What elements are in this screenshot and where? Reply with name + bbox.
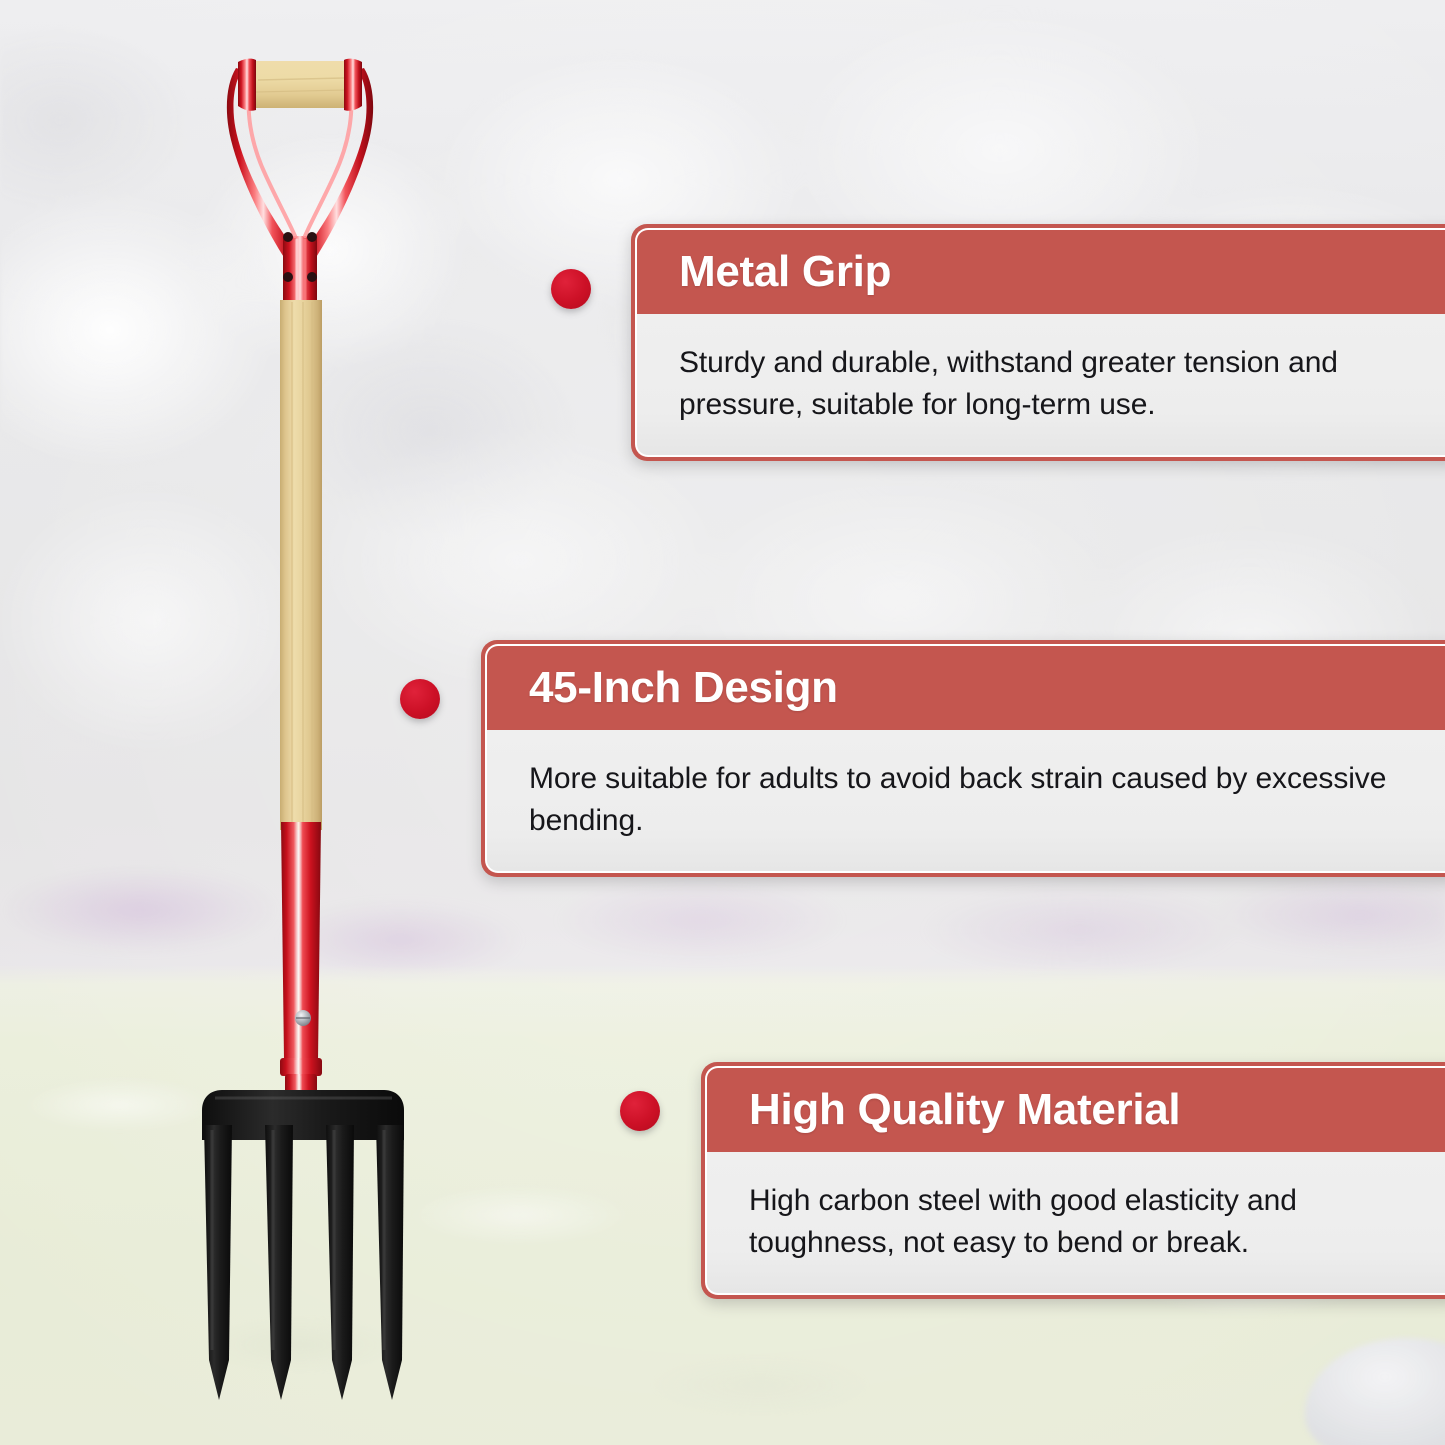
feature-card-inner: 45-Inch Design More suitable for adults …	[485, 644, 1445, 873]
feature-card-header: High Quality Material	[707, 1068, 1445, 1152]
feature-title: Metal Grip	[679, 249, 1445, 295]
feature-card-45-inch-design[interactable]: 45-Inch Design More suitable for adults …	[481, 640, 1445, 877]
feature-title: High Quality Material	[749, 1087, 1445, 1133]
feature-card-header: 45-Inch Design	[487, 646, 1445, 730]
feature-description: Sturdy and durable, withstand greater te…	[679, 342, 1425, 425]
product-infographic: Metal Grip Sturdy and durable, withstand…	[0, 0, 1445, 1445]
feature-card-body: More suitable for adults to avoid back s…	[487, 730, 1445, 871]
callout-dot-45-inch-design	[400, 679, 440, 719]
callout-dot-high-quality-material	[620, 1091, 660, 1131]
feature-card-inner: Metal Grip Sturdy and durable, withstand…	[635, 228, 1445, 457]
feature-card-high-quality-material[interactable]: High Quality Material High carbon steel …	[701, 1062, 1445, 1299]
feature-description: High carbon steel with good elasticity a…	[749, 1180, 1425, 1263]
feature-card-metal-grip[interactable]: Metal Grip Sturdy and durable, withstand…	[631, 224, 1445, 461]
callout-dot-metal-grip	[551, 269, 591, 309]
feature-card-body: High carbon steel with good elasticity a…	[707, 1152, 1445, 1293]
feature-card-body: Sturdy and durable, withstand greater te…	[637, 314, 1445, 455]
feature-description: More suitable for adults to avoid back s…	[529, 758, 1425, 841]
feature-title: 45-Inch Design	[529, 665, 1445, 711]
feature-card-header: Metal Grip	[637, 230, 1445, 314]
feature-card-inner: High Quality Material High carbon steel …	[705, 1066, 1445, 1295]
